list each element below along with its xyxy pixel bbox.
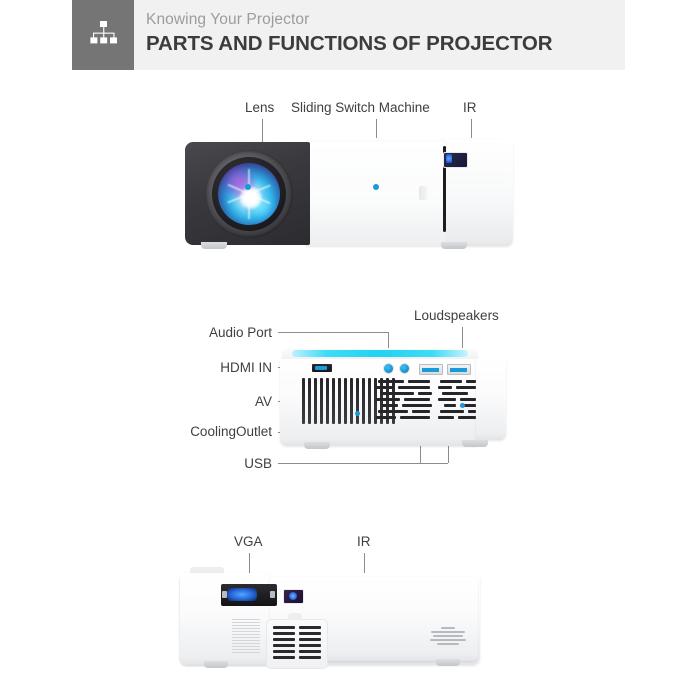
side-grille-box bbox=[266, 619, 328, 669]
side-grille-tab bbox=[288, 613, 302, 620]
ir-sensor-side bbox=[283, 589, 304, 604]
side-small-grille bbox=[428, 627, 468, 645]
side-mesh-vent bbox=[232, 619, 260, 653]
vga-connector bbox=[227, 588, 257, 601]
page-root: Knowing Your Projector PARTS AND FUNCTIO… bbox=[0, 0, 700, 700]
side-foot-right bbox=[436, 659, 460, 666]
side-view-projector bbox=[180, 565, 510, 670]
vga-screw-right bbox=[270, 591, 275, 598]
side-view-group: VGA IR bbox=[0, 0, 700, 700]
vga-port-block bbox=[221, 584, 277, 606]
side-grille-column-left bbox=[273, 626, 295, 659]
label-ir-side: IR bbox=[357, 534, 371, 550]
side-grille-column-right bbox=[299, 626, 321, 659]
side-foot-left bbox=[204, 661, 228, 668]
label-vga: VGA bbox=[234, 534, 263, 550]
vga-screw-left bbox=[222, 591, 227, 598]
